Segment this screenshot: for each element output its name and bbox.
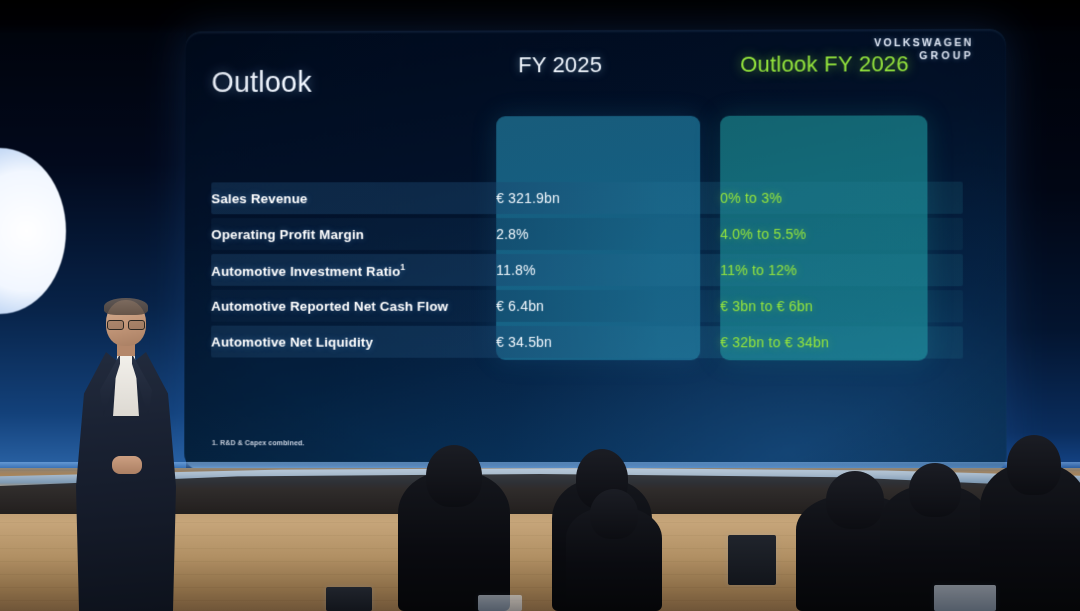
row-label: Automotive Reported Net Cash Flow bbox=[211, 298, 496, 313]
row-value-fy2026: 0% to 3% bbox=[720, 190, 782, 206]
column-header-outlook-fy2026: Outlook FY 2026 bbox=[740, 51, 909, 78]
audience-head bbox=[1007, 435, 1061, 495]
row-value-fy2025: € 321.9bn bbox=[496, 190, 720, 206]
laptop bbox=[478, 595, 522, 611]
laptop bbox=[934, 585, 996, 611]
audience-head bbox=[426, 445, 482, 507]
audience-head bbox=[590, 489, 638, 539]
row-value-fy2026: € 3bn to € 6bn bbox=[720, 298, 813, 314]
row-label: Automotive Investment Ratio1 bbox=[211, 262, 496, 279]
laptop bbox=[728, 535, 776, 585]
audience-head bbox=[826, 471, 884, 529]
outlook-table: FY 2025 Outlook FY 2026 Sales Revenue € … bbox=[184, 29, 1006, 474]
presenter-hair bbox=[104, 298, 148, 315]
row-label: Automotive Net Liquidity bbox=[211, 334, 496, 349]
row-value-fy2026: 11% to 12% bbox=[720, 262, 797, 278]
laptop bbox=[326, 587, 372, 611]
stage-wall-right bbox=[996, 0, 1080, 470]
row-label: Operating Profit Margin bbox=[211, 227, 496, 242]
row-value-fy2025: € 6.4bn bbox=[496, 298, 720, 314]
audience-member bbox=[398, 471, 510, 611]
screenshot-root: VOLKSWAGEN GROUP Outlook FY 2025 Outlook… bbox=[0, 0, 1080, 611]
presentation-slide: VOLKSWAGEN GROUP Outlook FY 2025 Outlook… bbox=[184, 29, 1006, 474]
table-rows: Sales Revenue € 321.9bn 0% to 3% Operati… bbox=[211, 180, 963, 361]
table-row: Sales Revenue € 321.9bn 0% to 3% bbox=[211, 180, 963, 217]
row-value-fy2025: 11.8% bbox=[496, 262, 720, 278]
row-label: Sales Revenue bbox=[211, 191, 496, 206]
table-row: Automotive Investment Ratio1 11.8% 11% t… bbox=[211, 252, 963, 288]
footnote-marker: 1 bbox=[400, 262, 405, 272]
row-value-fy2026: 4.0% to 5.5% bbox=[720, 226, 806, 242]
row-value-fy2025: 2.8% bbox=[496, 226, 720, 242]
audience-row bbox=[0, 455, 1080, 611]
audience-member bbox=[566, 507, 662, 611]
row-value-fy2025: € 34.5bn bbox=[496, 334, 720, 350]
row-value-fy2026: € 32bn to € 34bn bbox=[720, 334, 829, 350]
glasses-icon bbox=[106, 320, 146, 328]
table-row: Automotive Net Liquidity € 34.5bn € 32bn… bbox=[211, 324, 963, 361]
audience-head bbox=[909, 463, 961, 517]
column-header-fy2025: FY 2025 bbox=[518, 52, 602, 78]
table-row: Automotive Reported Net Cash Flow € 6.4b… bbox=[211, 288, 963, 325]
table-row: Operating Profit Margin 2.8% 4.0% to 5.5… bbox=[211, 216, 963, 252]
slide-footnote: 1. R&D & Capex combined. bbox=[212, 440, 305, 447]
